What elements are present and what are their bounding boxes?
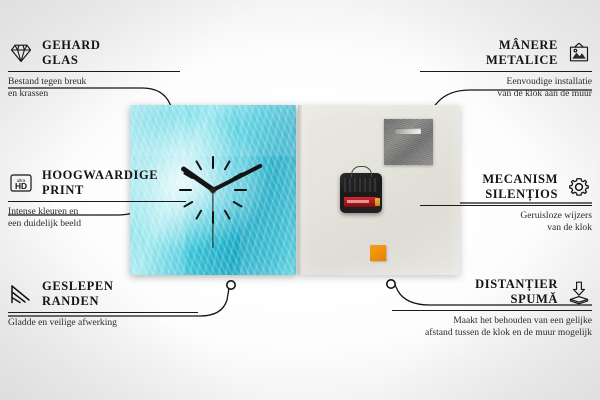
feature-header: DISTANȚIER SPUMĂ [392,277,592,306]
metal-hanger-loop [351,166,372,177]
feature-divider [8,201,186,202]
feature-description: Maakt het behouden van een gelijke afsta… [392,315,592,338]
clock-hands-hub [210,187,216,193]
feature-header: ultra HD HOOGWAARDIGE PRINT [8,168,186,197]
feature-description: Bestand tegen breuk en krassen [8,76,180,99]
back-panel-edge [298,105,302,275]
hanger-keyhole-slot [395,128,421,134]
feature-geslepen-randen: GESLEPEN RANDEN Gladde en veilige afwerk… [8,279,198,329]
feature-description: Eenvoudige installatie van de klok aan d… [420,76,592,99]
feature-divider [8,71,180,72]
feature-title: HOOGWAARDIGE PRINT [42,168,158,197]
feature-divider [8,312,198,313]
feature-hoogwaardige-print: ultra HD HOOGWAARDIGE PRINT Intense kleu… [8,168,186,229]
feature-header: GESLEPEN RANDEN [8,279,198,308]
metal-hanger-plate [384,119,433,165]
svg-text:HD: HD [15,181,27,191]
feature-divider [420,71,592,72]
feature-title: DISTANȚIER SPUMĂ [475,277,558,306]
foam-spacer-pad [370,245,386,261]
feature-gehard-glas: GEHARD GLAS Bestand tegen breuk en krass… [8,38,180,99]
infographic-canvas: GEHARD GLAS Bestand tegen breuk en krass… [0,0,600,400]
feature-header: MECANISM SILENȚIOS [420,172,592,201]
feature-title: MECANISM SILENȚIOS [482,172,558,201]
feature-divider [420,205,592,206]
feature-title: GESLEPEN RANDEN [42,279,114,308]
battery-label-stripe [347,200,369,203]
connector-dot-geslepen-randen [227,281,235,289]
ultra-hd-icon: ultra HD [8,170,34,196]
feature-mecanism-silentios: MECANISM SILENȚIOS Geruisloze wijzers va… [420,172,592,233]
feature-title: GEHARD GLAS [42,38,100,67]
aa-battery [344,197,377,207]
quartz-mechanism-box [340,173,382,213]
mechanism-housing-detail [344,178,378,192]
gear-icon [566,174,592,200]
feature-description: Intense kleuren en een duidelijk beeld [8,206,186,229]
feature-header: GEHARD GLAS [8,38,180,67]
feature-distantier-spuma: DISTANȚIER SPUMĂ Maakt het behouden van … [392,277,592,338]
feature-manere-metalice: MÂNERE METALICE Eenvoudige installatie v… [420,38,592,99]
feature-divider [392,310,592,311]
feature-title: MÂNERE METALICE [486,38,558,67]
battery-positive-terminal [375,198,380,206]
bevelled-edges-icon [8,281,34,307]
feature-description: Geruisloze wijzers van de klok [420,210,592,233]
hanging-picture-frame-icon [566,40,592,66]
diamond-icon [8,40,34,66]
feature-header: MÂNERE METALICE [420,38,592,67]
feature-description: Gladde en veilige afwerking [8,317,198,329]
spacer-press-icon [566,279,592,305]
